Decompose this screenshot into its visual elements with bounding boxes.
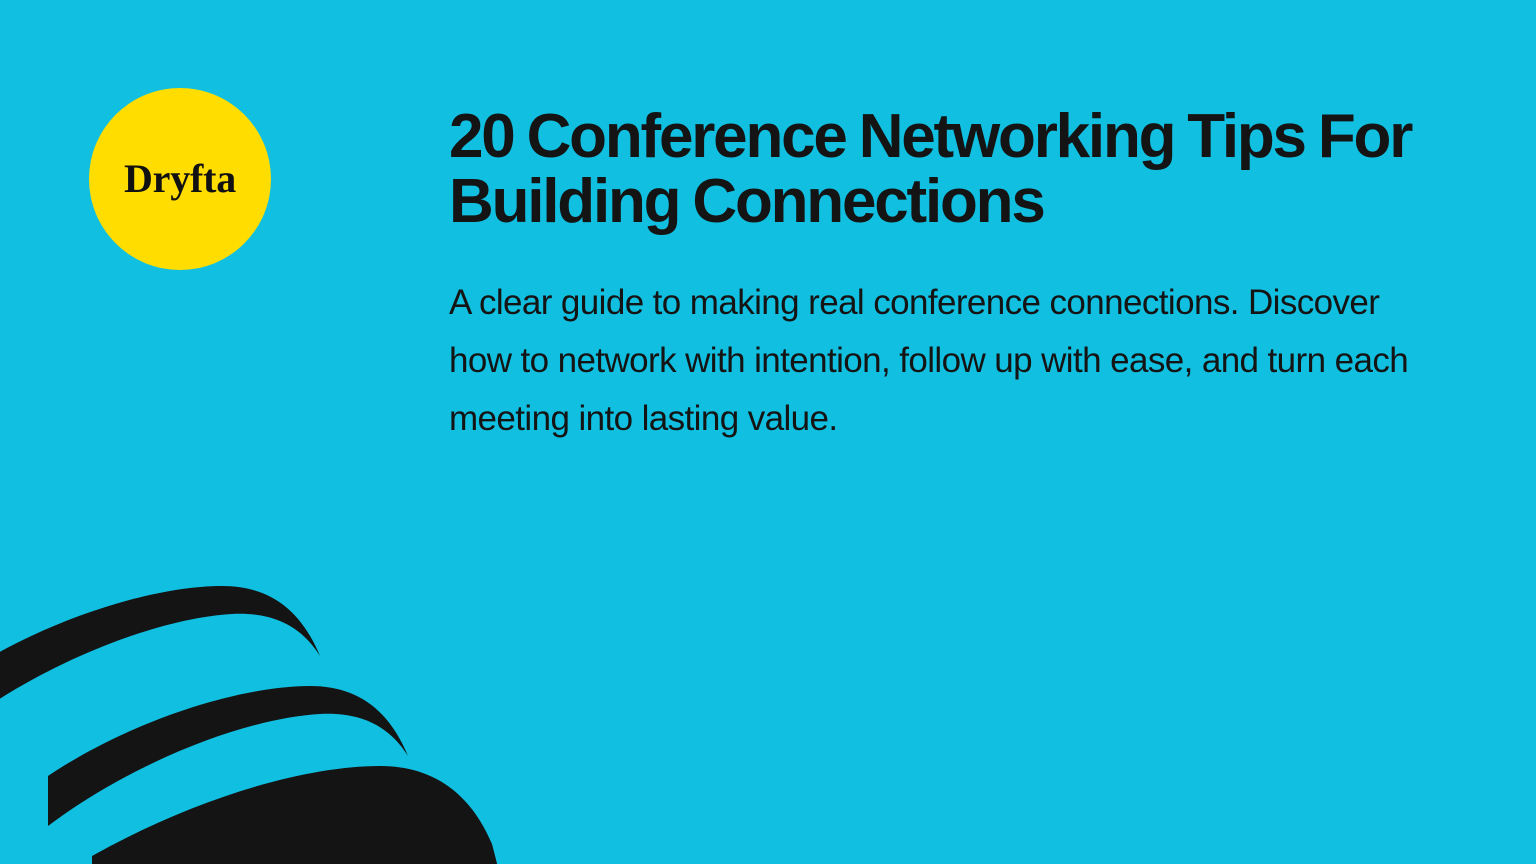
wave-stripe-3 [92,766,502,864]
article-subtitle: A clear guide to making real conference … [449,234,1439,448]
article-cover-card: Dryfta 20 Conference Networking Tips For… [0,0,1536,864]
wave-decoration [0,564,620,864]
wave-stripe-1 [0,586,320,726]
article-text-block: 20 Conference Networking Tips For Buildi… [449,104,1439,448]
logo-badge: Dryfta [89,88,271,270]
wave-stripe-group [0,586,502,864]
wave-stripe-2 [48,686,408,826]
logo-wordmark: Dryfta [124,159,236,199]
page-title: 20 Conference Networking Tips For Buildi… [449,104,1439,234]
